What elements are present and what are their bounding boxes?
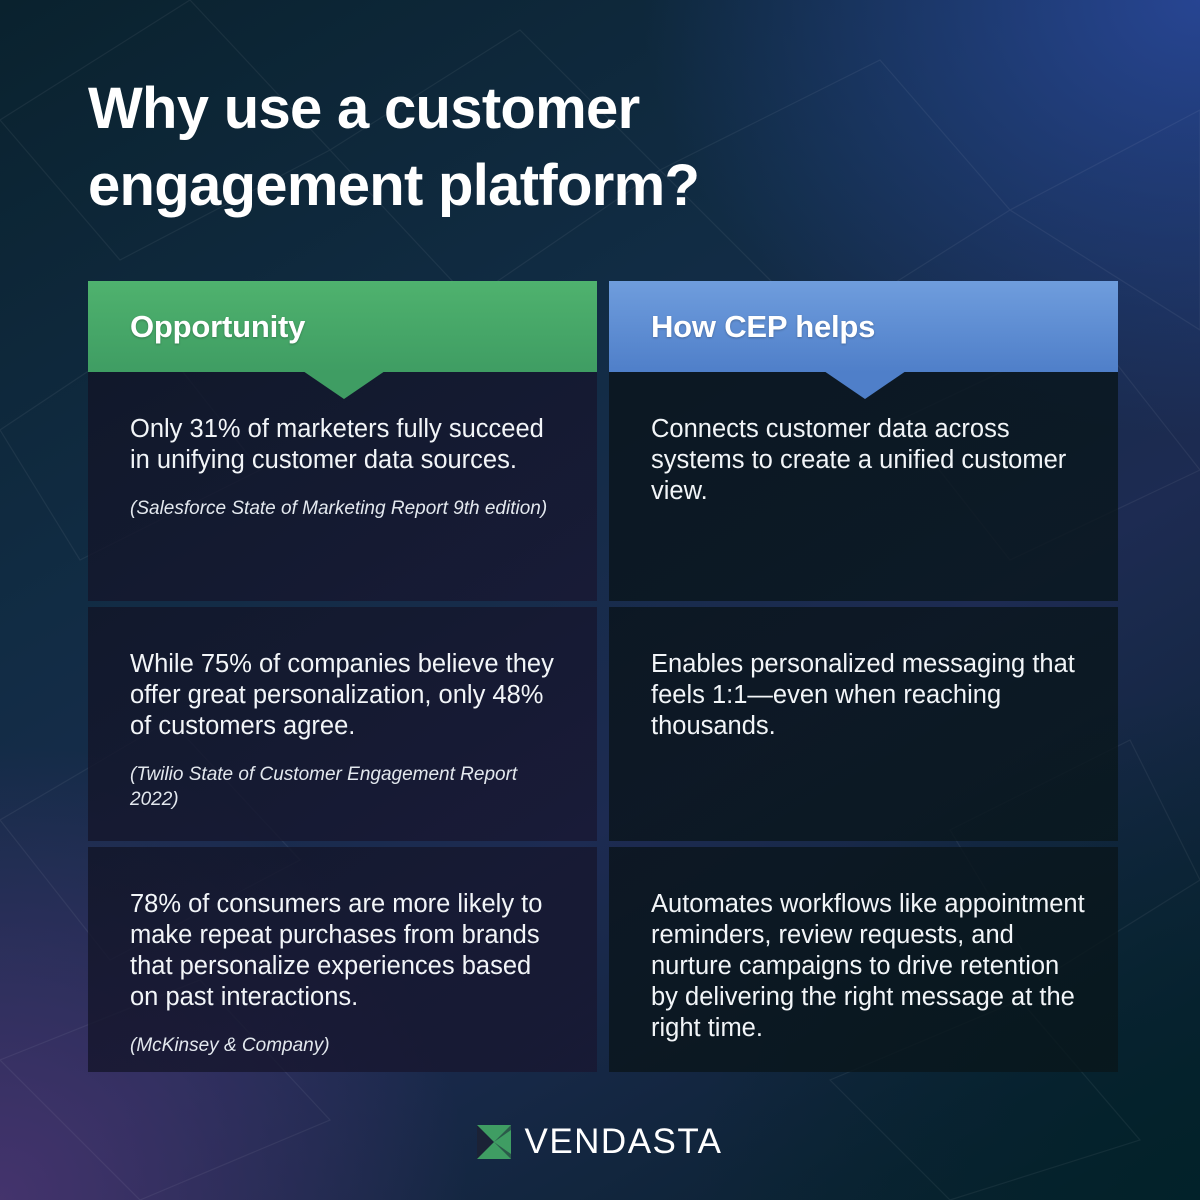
table-cell-opportunity-2: While 75% of companies believe they offe… (88, 607, 597, 841)
opportunity-source-3: (McKinsey & Company) (130, 1033, 565, 1058)
table-cell-opportunity-1: Only 31% of marketers fully succeed in u… (88, 372, 597, 601)
table-cell-cep-2: Enables personalized messaging that feel… (609, 607, 1118, 841)
table-cell-cep-1: Connects customer data across systems to… (609, 372, 1118, 601)
column-header-opportunity: Opportunity (88, 281, 597, 372)
column-header-how-cep-helps-label: How CEP helps (651, 309, 875, 345)
column-how-cep-helps: How CEP helps Connects customer data acr… (609, 281, 1118, 1066)
opportunity-source-1: (Salesforce State of Marketing Report 9t… (130, 496, 565, 521)
cep-stat-2: Enables personalized messaging that feel… (651, 649, 1086, 742)
comparison-table: Opportunity Only 31% of marketers fully … (88, 281, 1118, 1066)
cep-cells: Connects customer data across systems to… (609, 372, 1118, 1072)
column-opportunity: Opportunity Only 31% of marketers fully … (88, 281, 597, 1066)
cep-stat-1: Connects customer data across systems to… (651, 414, 1086, 507)
brand-footer: VENDASTA (0, 1122, 1200, 1162)
vendasta-mark-icon (477, 1125, 511, 1159)
infographic-canvas: Why use a customer engagement platform? … (0, 0, 1200, 1200)
column-header-how-cep-helps: How CEP helps (609, 281, 1118, 372)
opportunity-cells: Only 31% of marketers fully succeed in u… (88, 372, 597, 1072)
table-cell-opportunity-3: 78% of consumers are more likely to make… (88, 847, 597, 1072)
opportunity-stat-3: 78% of consumers are more likely to make… (130, 889, 565, 1013)
table-cell-cep-3: Automates workflows like appointment rem… (609, 847, 1118, 1072)
page-title: Why use a customer engagement platform? (88, 70, 948, 224)
header-pointer-triangle-icon (824, 371, 906, 399)
opportunity-stat-2: While 75% of companies believe they offe… (130, 649, 565, 742)
cep-stat-3: Automates workflows like appointment rem… (651, 889, 1086, 1045)
vendasta-wordmark: VENDASTA (524, 1122, 722, 1162)
opportunity-stat-1: Only 31% of marketers fully succeed in u… (130, 414, 565, 476)
opportunity-source-2: (Twilio State of Customer Engagement Rep… (130, 762, 565, 812)
header-pointer-triangle-icon (303, 371, 385, 399)
column-header-opportunity-label: Opportunity (130, 309, 305, 345)
